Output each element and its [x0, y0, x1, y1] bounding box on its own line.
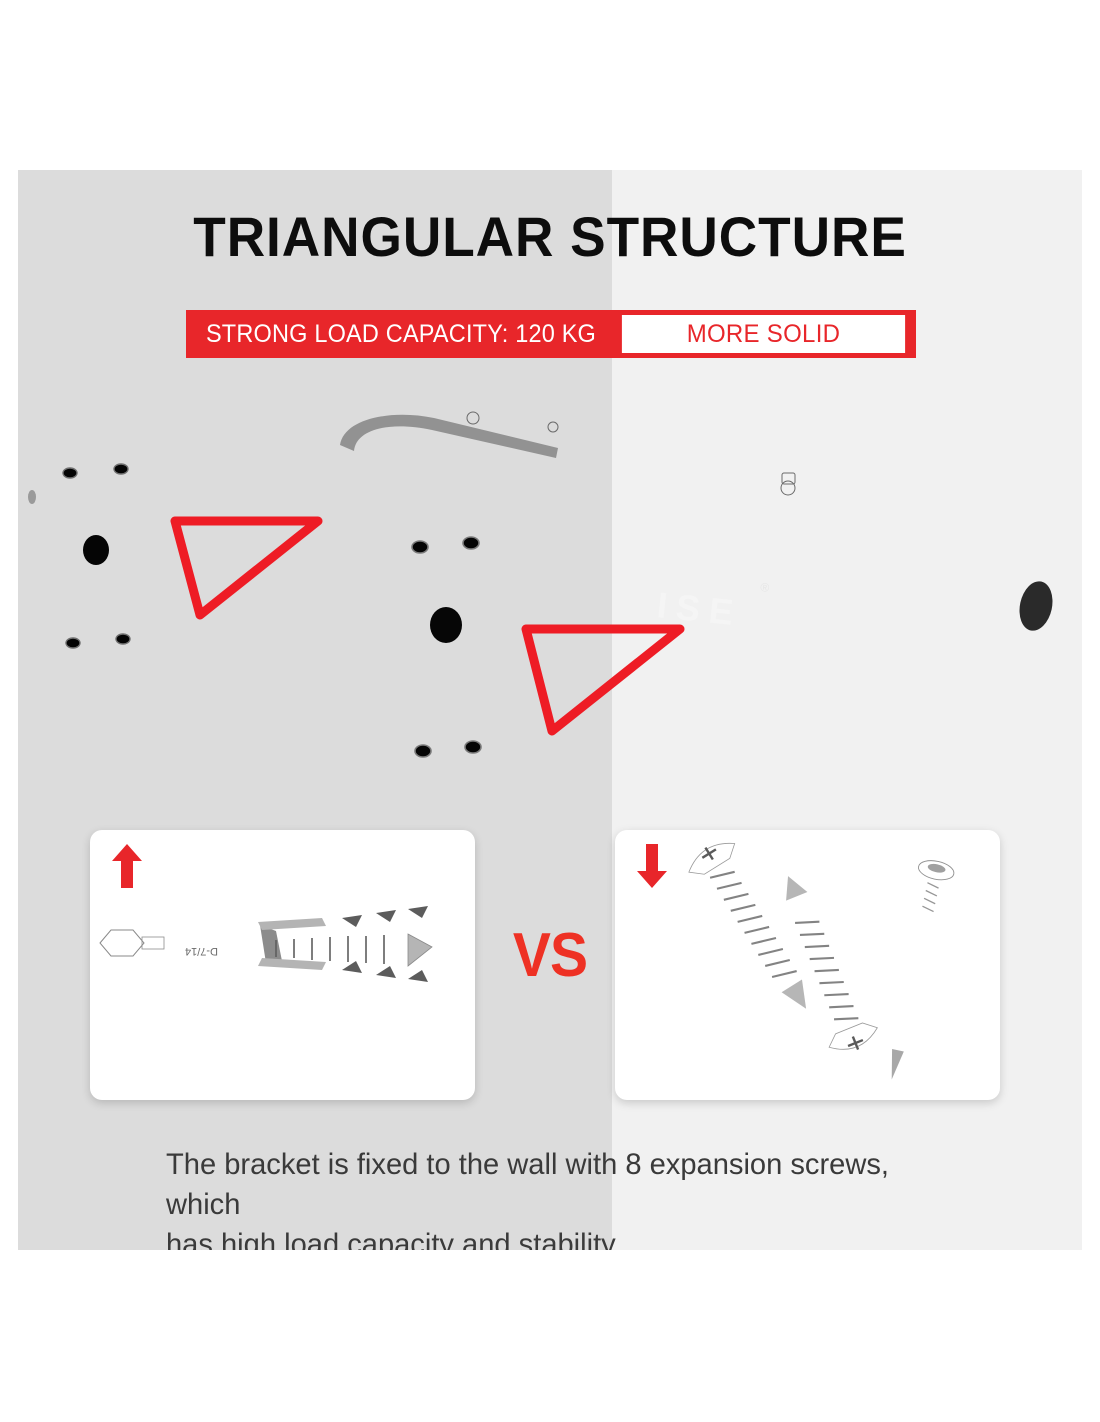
comparison-section: D-7/14: [18, 830, 1082, 1115]
screws-nail-card: [615, 830, 1000, 1100]
more-solid-badge: MORE SOLID: [622, 315, 905, 353]
expansion-anchor-card: D-7/14: [90, 830, 475, 1100]
screws-and-nail-illustration: [615, 830, 1000, 1100]
brand-logo-trademark: ®: [760, 580, 770, 595]
product-marketing-image: TRIANGULAR STRUCTURE STRONG LOAD CAPACIT…: [0, 0, 1100, 1422]
load-capacity-banner: STRONG LOAD CAPACITY: 120 KG MORE SOLID: [186, 310, 916, 358]
expansion-anchor-illustration: D-7/14: [90, 830, 475, 1100]
nail: [874, 858, 956, 1084]
anchor-sleeve-marking: D-7/14: [185, 945, 218, 957]
caption-line-2: has high load capacity and stability.: [166, 1225, 942, 1250]
anchor-bolt-shank: [142, 937, 164, 949]
caption-line-1: The bracket is fixed to the wall with 8 …: [166, 1145, 942, 1225]
content-panel: TRIANGULAR STRUCTURE STRONG LOAD CAPACIT…: [18, 170, 1082, 1250]
caption-text: The bracket is fixed to the wall with 8 …: [166, 1145, 942, 1250]
page-title: TRIANGULAR STRUCTURE: [45, 206, 1056, 268]
product-photo: ISE ®: [18, 385, 1082, 825]
load-capacity-text: STRONG LOAD CAPACITY: 120 KG: [199, 310, 603, 358]
pull-up-bar-illustration: ISE ®: [18, 385, 1082, 825]
anchor-bolt-head: [100, 930, 144, 956]
chrome-bolt-left: [28, 490, 108, 504]
vs-label: VS: [493, 920, 607, 991]
